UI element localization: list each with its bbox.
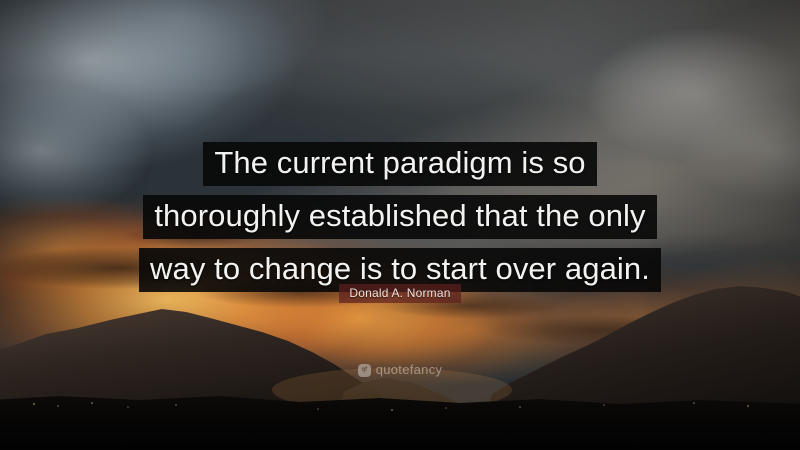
quotefancy-watermark: qf quotefancy (0, 363, 800, 377)
foreground-plain (0, 396, 800, 450)
quote-text-block: The current paradigm is so thoroughly es… (0, 142, 800, 301)
quote-line-2: thoroughly established that the only (143, 195, 656, 239)
quote-author: Donald A. Norman (339, 284, 460, 303)
attribution-wrapper: Donald A. Norman (0, 284, 800, 303)
quote-line-1: The current paradigm is so (203, 142, 596, 186)
center-ridge (330, 378, 500, 450)
left-mountain (0, 309, 380, 450)
quotefancy-logo-icon: qf (358, 364, 371, 377)
quote-line-wrapper: thoroughly established that the only (0, 195, 800, 239)
distant-lights (33, 402, 749, 411)
quote-line-wrapper: The current paradigm is so (0, 142, 800, 186)
quotefancy-wordmark: quotefancy (376, 363, 443, 377)
quote-image: The current paradigm is so thoroughly es… (0, 0, 800, 450)
